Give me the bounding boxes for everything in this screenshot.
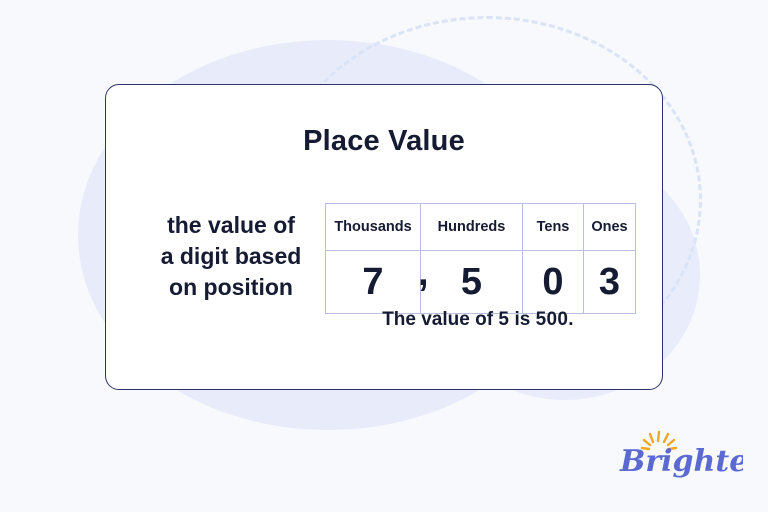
definition-line-1: the value of [126, 210, 336, 241]
value-caption: The value of 5 is 500. [325, 309, 631, 331]
header-thousands: Thousands [326, 204, 421, 251]
table-row-headers: Thousands Hundreds Tens Ones [326, 204, 636, 251]
lesson-card: Place Value the value of a digit based o… [105, 84, 663, 390]
caption-prefix: The value of [382, 309, 498, 330]
caption-value: 500. [536, 309, 574, 330]
header-hundreds: Hundreds [421, 204, 523, 251]
place-value-table: Thousands Hundreds Tens Ones 7 5 0 3 [325, 203, 636, 314]
digit-ones: 3 [584, 251, 636, 314]
header-tens: Tens [523, 204, 584, 251]
caption-digit: 5 [498, 309, 509, 330]
definition-text: the value of a digit based on position [126, 210, 336, 303]
digit-tens: 0 [523, 251, 584, 314]
header-ones: Ones [584, 204, 636, 251]
screenshot-root: Place Value the value of a digit based o… [0, 0, 768, 512]
brighterly-logo: Brighterly [618, 428, 743, 484]
definition-line-2: a digit based [126, 241, 336, 272]
brighterly-wordmark: Brighterly [619, 444, 743, 479]
page-title: Place Value [106, 125, 662, 158]
digit-thousands: 7 [326, 251, 421, 314]
table-row-digits: 7 5 0 3 [326, 251, 636, 314]
caption-middle: is [509, 309, 535, 330]
digit-hundreds: 5 [421, 251, 523, 314]
svg-text:Brighterly: Brighterly [619, 444, 743, 479]
definition-line-3: on position [126, 272, 336, 303]
thousands-separator-comma: , [418, 254, 429, 292]
